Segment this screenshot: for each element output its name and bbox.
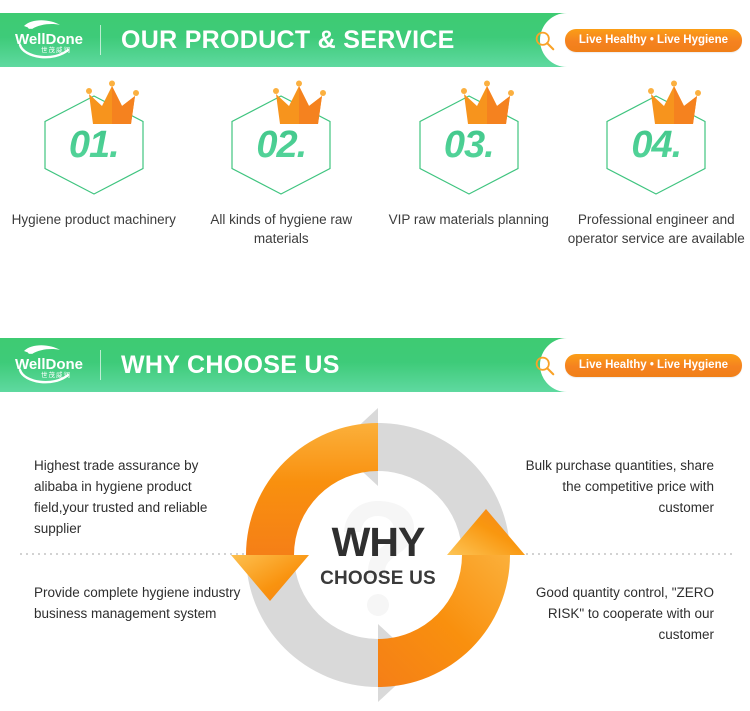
slogan-badge-products[interactable]: Live Healthy • Live Hygiene xyxy=(565,29,742,52)
why-cycle-diagram: WHY CHOOSE US xyxy=(228,405,528,705)
product-caption: All kinds of hygiene raw materials xyxy=(191,210,371,248)
blurb-bottom-left: Provide complete hygiene industry busine… xyxy=(34,582,244,624)
section-banner-why: WellDone 世茂威润 WHY CHOOSE US Live Healthy… xyxy=(0,338,750,392)
cycle-arrows-svg xyxy=(228,405,528,705)
product-caption: VIP raw materials planning xyxy=(379,210,559,229)
hex-graphic: 03. xyxy=(417,80,521,196)
section2-title: WHY CHOOSE US xyxy=(121,338,340,392)
product-item-1[interactable]: 01. Hygiene product machinery xyxy=(0,80,188,280)
product-item-4[interactable]: 04. Professional engineer and operator s… xyxy=(563,80,750,280)
blurb-top-right: Bulk purchase quantities, share the comp… xyxy=(504,455,714,518)
product-item-2[interactable]: 02. All kinds of hygiene raw materials xyxy=(188,80,376,280)
divider-dotted-left xyxy=(18,553,262,555)
product-item-3[interactable]: 03. VIP raw materials planning xyxy=(375,80,563,280)
page-root: WellDone 世茂威润 OUR PRODUCT & SERVICE Live… xyxy=(0,0,750,711)
welldone-logo-icon: WellDone 世茂威润 xyxy=(10,342,88,388)
why-choose-us-area: Highest trade assurance by alibaba in hy… xyxy=(0,400,750,711)
section2-banner-right: Live Healthy • Live Hygiene xyxy=(534,338,742,392)
welldone-logo-icon: WellDone 世茂威润 xyxy=(10,17,88,63)
section1-banner-right: Live Healthy • Live Hygiene xyxy=(534,13,742,67)
banner-divider xyxy=(100,350,101,380)
search-icon[interactable] xyxy=(534,30,555,51)
product-number: 01. xyxy=(42,94,146,196)
product-number: 03. xyxy=(417,94,521,196)
brand-logo: WellDone 世茂威润 xyxy=(10,342,88,388)
product-hex-row: 01. Hygiene product machinery 02. All ki… xyxy=(0,80,750,280)
product-caption: Professional engineer and operator servi… xyxy=(566,210,746,248)
hex-graphic: 01. xyxy=(42,80,146,196)
brand-logo: WellDone 世茂威润 xyxy=(10,17,88,63)
banner-divider xyxy=(100,25,101,55)
search-icon[interactable] xyxy=(534,355,555,376)
slogan-badge-why[interactable]: Live Healthy • Live Hygiene xyxy=(565,354,742,377)
hex-graphic: 02. xyxy=(229,80,333,196)
hex-graphic: 04. xyxy=(604,80,708,196)
product-number: 02. xyxy=(229,94,333,196)
question-mark-watermark xyxy=(344,501,414,616)
product-number: 04. xyxy=(604,94,708,196)
product-caption: Hygiene product machinery xyxy=(4,210,184,229)
section1-title: OUR PRODUCT & SERVICE xyxy=(121,13,455,67)
blurb-bottom-right: Good quantity control, "ZERO RISK" to co… xyxy=(504,582,714,645)
blurb-top-left: Highest trade assurance by alibaba in hy… xyxy=(34,455,244,539)
section-banner-products: WellDone 世茂威润 OUR PRODUCT & SERVICE Live… xyxy=(0,13,750,67)
